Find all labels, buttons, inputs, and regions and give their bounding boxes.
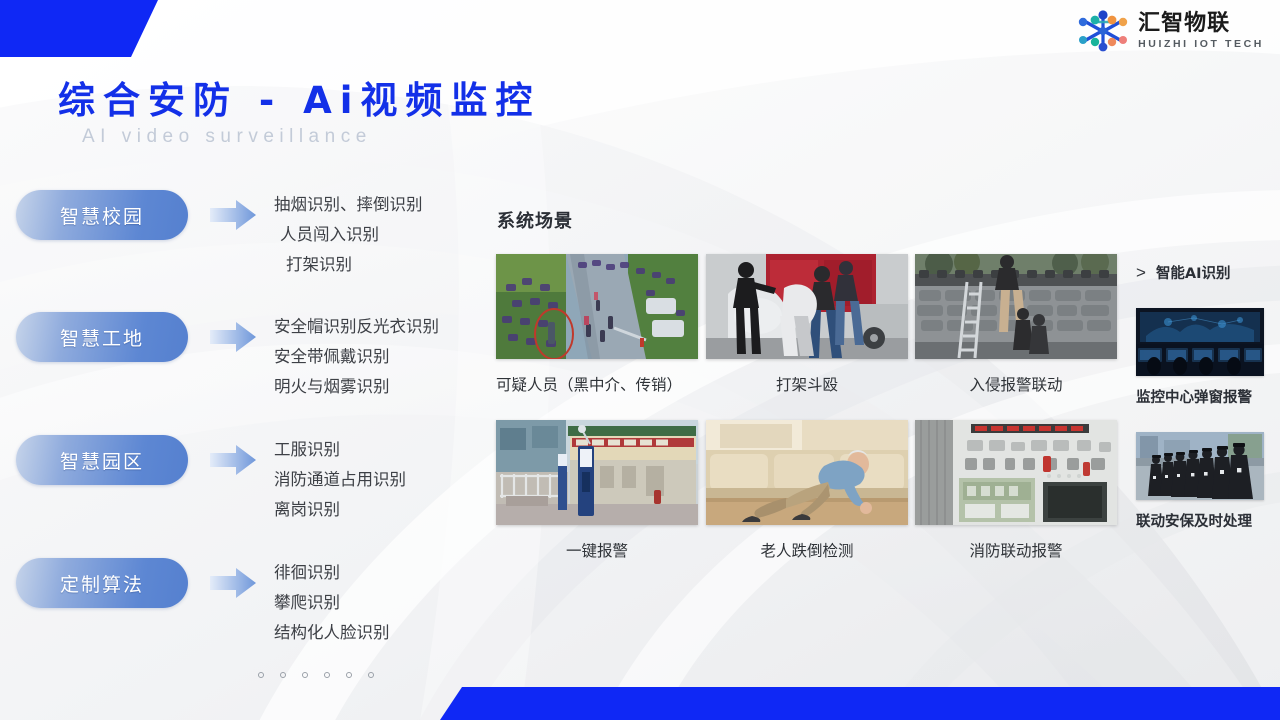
scene-caption: 一键报警 <box>496 539 698 561</box>
page-subtitle: AI video surveillance <box>82 126 372 148</box>
category-item: 攀爬识别 <box>274 588 390 618</box>
ai-heading-label: 智能AI识别 <box>1156 262 1231 283</box>
wall-ladder-intrusion-photo <box>915 254 1117 359</box>
ai-cell-control-room[interactable]: 监控中心弹窗报警 <box>1136 308 1278 407</box>
corner-shape-bottom-right <box>440 687 1280 720</box>
category-items-smart-site: 安全帽识别反光衣识别 安全带佩戴识别 明火与烟雾识别 <box>274 312 439 402</box>
chevron-right-icon: > <box>1136 264 1146 281</box>
category-item: 结构化人脸识别 <box>274 618 390 648</box>
category-item: 明火与烟雾识别 <box>274 372 439 402</box>
category-item: 徘徊识别 <box>274 558 390 588</box>
ellipsis-dot <box>368 672 374 678</box>
brand-name-en: HUIZHI IOT TECH <box>1138 39 1264 50</box>
page-title: 综合安防 - Ai视频监控 <box>58 70 540 124</box>
category-items-smart-park: 工服识别 消防通道占用识别 离岗识别 <box>274 435 406 525</box>
category-items-custom-algorithm: 徘徊识别 攀爬识别 结构化人脸识别 <box>274 558 390 648</box>
ellipsis-dots <box>258 672 374 678</box>
scene-caption: 入侵报警联动 <box>915 373 1117 395</box>
scene-cell-suspicious-person[interactable]: 可疑人员（黑中介、传销） <box>496 254 698 395</box>
scene-cell-elderly-fall[interactable]: 老人跌倒检测 <box>706 420 908 561</box>
ellipsis-dot <box>258 672 264 678</box>
category-item: 打架识别 <box>274 250 423 280</box>
scene-cell-one-key-alarm[interactable]: 一键报警 <box>496 420 698 561</box>
scene-caption: 消防联动报警 <box>915 539 1117 561</box>
arrow-right-icon <box>210 443 256 477</box>
category-pill-label: 智慧校园 <box>60 202 144 229</box>
arrow-right-icon <box>210 566 256 600</box>
arrow-right-icon <box>210 198 256 232</box>
brand-logo: 汇智物联 HUIZHI IOT TECH <box>1076 10 1264 52</box>
arrow-right-icon <box>210 320 256 354</box>
category-item: 人员闯入识别 <box>274 220 423 250</box>
ellipsis-dot <box>324 672 330 678</box>
ai-cell-security-guards[interactable]: 联动安保及时处理 <box>1136 432 1278 531</box>
ai-recognition-heading: > 智能AI识别 <box>1136 262 1231 283</box>
scenes-panel-title: 系统场景 <box>497 207 573 233</box>
ai-cell-caption: 监控中心弹窗报警 <box>1136 386 1278 407</box>
category-pill-smart-park[interactable]: 智慧园区 <box>16 435 188 485</box>
category-pill-smart-site[interactable]: 智慧工地 <box>16 312 188 362</box>
category-pill-smart-campus[interactable]: 智慧校园 <box>16 190 188 240</box>
category-row-smart-site: 智慧工地 安全帽识别反光衣识别 安全带佩戴识别 明火与烟雾识别 <box>0 312 439 402</box>
scene-cell-intrusion[interactable]: 入侵报警联动 <box>915 254 1117 395</box>
scene-cell-fire-alarm[interactable]: 消防联动报警 <box>915 420 1117 561</box>
fire-control-panel-photo <box>915 420 1117 525</box>
scene-cell-fight[interactable]: 打架斗殴 <box>706 254 908 395</box>
ellipsis-dot <box>346 672 352 678</box>
slide-canvas: 汇智物联 HUIZHI IOT TECH 综合安防 - Ai视频监控 AI vi… <box>0 0 1280 720</box>
category-row-smart-campus: 智慧校园 抽烟识别、摔倒识别 人员闯入识别 打架识别 <box>0 190 423 280</box>
street-fight-photo <box>706 254 908 359</box>
category-pill-label: 定制算法 <box>60 570 144 597</box>
elderly-fall-photo <box>706 420 908 525</box>
scene-caption: 打架斗殴 <box>706 373 908 395</box>
street-crowd-surveillance-photo <box>496 254 698 359</box>
corner-shape-top-left <box>0 0 170 65</box>
ellipsis-dot <box>302 672 308 678</box>
brand-name-cn: 汇智物联 <box>1138 13 1264 35</box>
category-items-smart-campus: 抽烟识别、摔倒识别 人员闯入识别 打架识别 <box>274 190 423 280</box>
category-item: 工服识别 <box>274 435 406 465</box>
ai-cell-caption: 联动安保及时处理 <box>1136 510 1278 531</box>
security-guards-lineup-photo <box>1136 432 1264 500</box>
category-pill-custom-algorithm[interactable]: 定制算法 <box>16 558 188 608</box>
category-pill-label: 智慧工地 <box>60 324 144 351</box>
category-item: 安全带佩戴识别 <box>274 342 439 372</box>
scene-caption: 老人跌倒检测 <box>706 539 908 561</box>
category-item: 消防通道占用识别 <box>274 465 406 495</box>
control-room-monitors-photo <box>1136 308 1264 376</box>
category-pill-label: 智慧园区 <box>60 447 144 474</box>
category-item: 离岗识别 <box>274 495 406 525</box>
ellipsis-dot <box>280 672 286 678</box>
category-item: 抽烟识别、摔倒识别 <box>274 190 423 220</box>
scene-caption: 可疑人员（黑中介、传销） <box>496 373 698 395</box>
emergency-call-post-photo <box>496 420 698 525</box>
molecule-network-icon <box>1076 10 1130 52</box>
category-item: 安全帽识别反光衣识别 <box>274 312 439 342</box>
category-row-smart-park: 智慧园区 工服识别 消防通道占用识别 离岗识别 <box>0 435 406 525</box>
category-row-custom-algorithm: 定制算法 徘徊识别 攀爬识别 结构化人脸识别 <box>0 558 390 648</box>
